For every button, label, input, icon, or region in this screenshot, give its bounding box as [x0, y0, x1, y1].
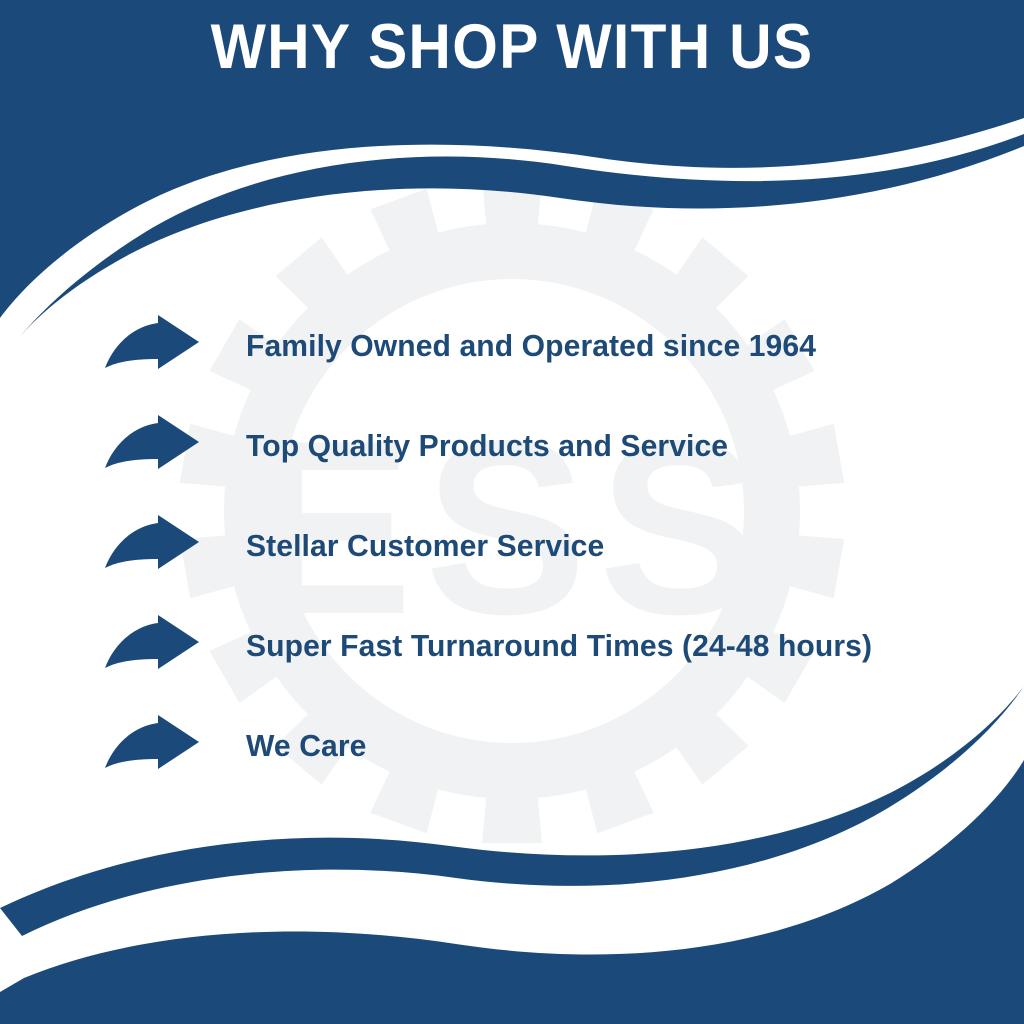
curved-arrow-right-icon [104, 614, 200, 678]
benefit-label: Stellar Customer Service [246, 528, 981, 564]
benefit-item: Super Fast Turnaround Times (24-48 hours… [104, 596, 1004, 696]
benefit-label: Super Fast Turnaround Times (24-48 hours… [246, 628, 981, 664]
benefit-item: Top Quality Products and Service [104, 396, 1004, 496]
benefit-label: Top Quality Products and Service [246, 428, 981, 464]
benefit-item: We Care [104, 696, 1004, 796]
page-title: WHY SHOP WITH US [36, 14, 988, 80]
curved-arrow-right-icon [104, 414, 200, 478]
curved-arrow-right-icon [104, 514, 200, 578]
benefit-item: Stellar Customer Service [104, 496, 1004, 596]
promo-banner: ESS WHY SHOP WITH US Family Owned and Op… [0, 0, 1024, 1024]
benefit-item: Family Owned and Operated since 1964 [104, 296, 1004, 396]
benefit-label: We Care [246, 728, 981, 764]
curved-arrow-right-icon [104, 714, 200, 778]
benefit-label: Family Owned and Operated since 1964 [246, 328, 981, 364]
benefits-list: Family Owned and Operated since 1964 Top… [104, 296, 1004, 796]
content-layer: WHY SHOP WITH US Family Owned and Operat… [0, 0, 1024, 1024]
curved-arrow-right-icon [104, 314, 200, 378]
